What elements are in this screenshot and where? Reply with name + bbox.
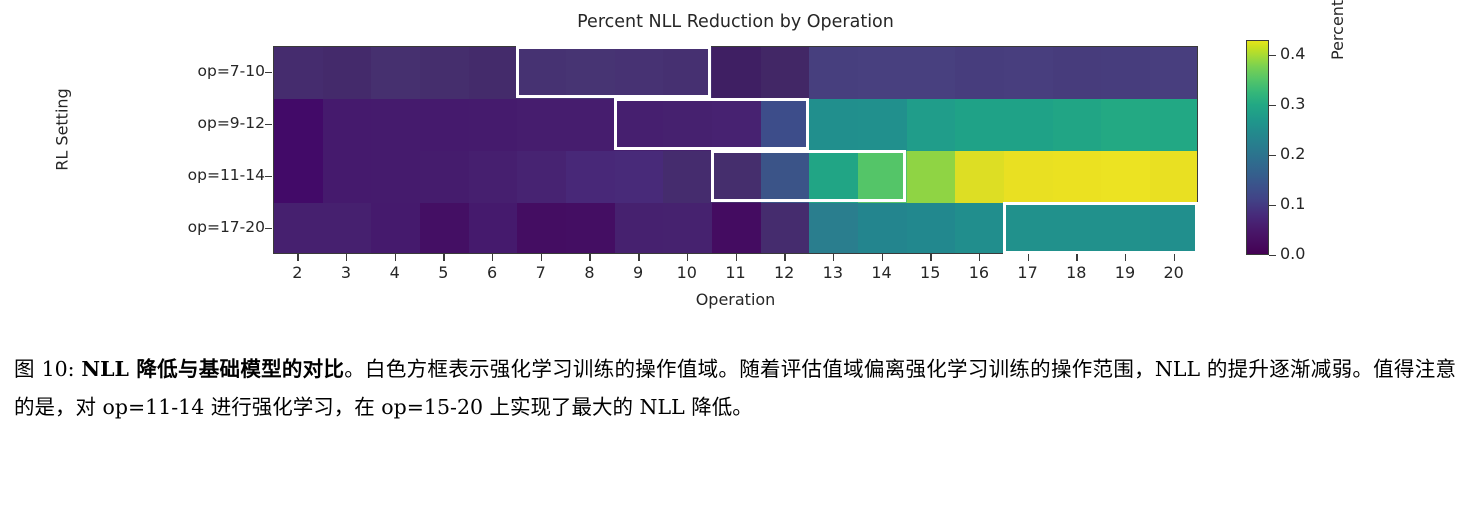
x-tick-label: 5 [423, 263, 463, 282]
heatmap-cell [1101, 99, 1150, 151]
x-tick-label: 18 [1056, 263, 1096, 282]
y-tick-label: op=17-20 [60, 218, 265, 236]
heatmap-cell [1004, 47, 1053, 99]
heatmap-cell [1150, 151, 1198, 203]
heatmap-cell [469, 99, 518, 151]
figure-container: Percent NLL Reduction by Operation RL Se… [0, 0, 1468, 330]
x-tick-mark [346, 254, 347, 261]
caption-bold-title: NLL 降低与基础模型的对比 [81, 357, 344, 381]
colorbar-tick-label: 0.2 [1280, 144, 1305, 163]
x-tick-label: 16 [959, 263, 999, 282]
heatmap-cell [615, 99, 664, 151]
colorbar-tick-label: 0.3 [1280, 94, 1305, 113]
heatmap-row [274, 151, 1198, 203]
heatmap-cell [469, 47, 518, 99]
heatmap-row [274, 203, 1198, 254]
heatmap-cell [1053, 151, 1102, 203]
x-tick-label: 2 [277, 263, 317, 282]
heatmap-cell [858, 99, 907, 151]
heatmap-cell [907, 47, 956, 99]
heatmap-cell [1004, 99, 1053, 151]
x-tick-label: 3 [326, 263, 366, 282]
heatmap-cell [858, 203, 907, 254]
heatmap-cell [420, 203, 469, 254]
x-tick-label: 13 [813, 263, 853, 282]
heatmap-cell [761, 99, 810, 151]
heatmap-cell [517, 99, 566, 151]
x-tick-mark [736, 254, 737, 261]
heatmap-cell [761, 203, 810, 254]
heatmap-cell [907, 151, 956, 203]
heatmap-cell [955, 203, 1004, 254]
x-tick-mark [979, 254, 980, 261]
heatmap-cell [907, 99, 956, 151]
heatmap-cell [323, 99, 372, 151]
heatmap-cell [566, 99, 615, 151]
x-tick-mark [395, 254, 396, 261]
heatmap-cell [1150, 99, 1198, 151]
heatmap-cell [615, 151, 664, 203]
colorbar-tick-mark [1269, 105, 1276, 106]
x-tick-label: 12 [764, 263, 804, 282]
colorbar-tick-label: 0.0 [1280, 244, 1305, 263]
heatmap-cell [809, 151, 858, 203]
y-tick-mark [265, 228, 272, 229]
heatmap-cell [955, 99, 1004, 151]
x-tick-mark [930, 254, 931, 261]
y-tick-label: op=7-10 [60, 62, 265, 80]
x-tick-label: 17 [1008, 263, 1048, 282]
x-tick-label: 14 [862, 263, 902, 282]
x-tick-label: 8 [569, 263, 609, 282]
x-tick-mark [784, 254, 785, 261]
chart-title: Percent NLL Reduction by Operation [273, 12, 1198, 32]
heatmap-cell [809, 99, 858, 151]
x-tick-label: 11 [716, 263, 756, 282]
x-tick-mark [687, 254, 688, 261]
heatmap-cell [663, 203, 712, 254]
x-tick-mark [589, 254, 590, 261]
colorbar-label: Percent Reduction [1328, 0, 1347, 60]
heatmap-cell [566, 47, 615, 99]
heatmap-cell [712, 99, 761, 151]
heatmap-cell [712, 151, 761, 203]
heatmap-cell [712, 47, 761, 99]
heatmap-cell [420, 151, 469, 203]
heatmap-cell [615, 47, 664, 99]
x-tick-label: 4 [375, 263, 415, 282]
x-tick-mark [297, 254, 298, 261]
heatmap-cell [809, 203, 858, 254]
heatmap-cell [955, 47, 1004, 99]
x-tick-mark [833, 254, 834, 261]
heatmap-cell [1004, 203, 1053, 254]
heatmap-cell [274, 99, 323, 151]
y-tick-mark [265, 124, 272, 125]
heatmap-cell [663, 99, 712, 151]
heatmap-cell [1053, 47, 1102, 99]
heatmap-cell [274, 47, 323, 99]
colorbar [1246, 40, 1269, 255]
heatmap-cell [517, 47, 566, 99]
x-tick-mark [638, 254, 639, 261]
heatmap-cell [663, 47, 712, 99]
heatmap-cell [1101, 47, 1150, 99]
y-tick-label: op=9-12 [60, 114, 265, 132]
colorbar-tick-mark [1269, 255, 1276, 256]
heatmap-cell [566, 151, 615, 203]
heatmap-cell [517, 151, 566, 203]
heatmap-cell [809, 47, 858, 99]
heatmap-row [274, 47, 1198, 99]
y-tick-mark [265, 176, 272, 177]
heatmap-cell [858, 151, 907, 203]
heatmap-cell [420, 99, 469, 151]
heatmap-cell [1004, 151, 1053, 203]
x-tick-mark [1076, 254, 1077, 261]
x-tick-mark [1125, 254, 1126, 261]
heatmap-cell [761, 151, 810, 203]
x-tick-label: 15 [910, 263, 950, 282]
heatmap-cell [371, 47, 420, 99]
heatmap-cell [615, 203, 664, 254]
colorbar-tick-label: 0.1 [1280, 194, 1305, 213]
y-tick-mark [265, 72, 272, 73]
x-tick-mark [1028, 254, 1029, 261]
heatmap-cell [907, 203, 956, 254]
x-axis-label: Operation [273, 290, 1198, 309]
heatmap-cell [274, 151, 323, 203]
caption-figure-label: 图 10: [14, 357, 75, 381]
heatmap-cell [517, 203, 566, 254]
heatmap-cell [371, 203, 420, 254]
colorbar-tick-mark [1269, 55, 1276, 56]
heatmap-cell [420, 47, 469, 99]
heatmap-cell [469, 151, 518, 203]
x-tick-mark [541, 254, 542, 261]
heatmap-cell [663, 151, 712, 203]
heatmap-cell [712, 203, 761, 254]
heatmap-cell [1150, 203, 1198, 254]
x-tick-label: 19 [1105, 263, 1145, 282]
figure-caption: 图 10: NLL 降低与基础模型的对比。白色方框表示强化学习训练的操作值域。随… [14, 350, 1456, 426]
heatmap-cell [274, 203, 323, 254]
x-tick-mark [492, 254, 493, 261]
x-tick-label: 6 [472, 263, 512, 282]
heatmap-cell [371, 151, 420, 203]
heatmap-cell [566, 203, 615, 254]
x-tick-label: 10 [667, 263, 707, 282]
heatmap-grid [274, 47, 1197, 254]
heatmap-cell [858, 47, 907, 99]
heatmap-cell [469, 203, 518, 254]
heatmap-cell [323, 203, 372, 254]
heatmap-cell [955, 151, 1004, 203]
heatmap-plot [273, 46, 1198, 254]
colorbar-tick-label: 0.4 [1280, 44, 1305, 63]
colorbar-tick-mark [1269, 205, 1276, 206]
heatmap-cell [323, 151, 372, 203]
heatmap-cell [1101, 151, 1150, 203]
x-tick-label: 7 [521, 263, 561, 282]
x-tick-label: 20 [1154, 263, 1194, 282]
heatmap-cell [1053, 99, 1102, 151]
x-tick-mark [882, 254, 883, 261]
heatmap-cell [1101, 203, 1150, 254]
x-tick-mark [1174, 254, 1175, 261]
heatmap-cell [761, 47, 810, 99]
heatmap-cell [1150, 47, 1198, 99]
heatmap-row [274, 99, 1198, 151]
heatmap-cell [1053, 203, 1102, 254]
heatmap-cell [371, 99, 420, 151]
y-tick-label: op=11-14 [60, 166, 265, 184]
colorbar-tick-mark [1269, 155, 1276, 156]
x-tick-label: 9 [618, 263, 658, 282]
x-tick-mark [443, 254, 444, 261]
heatmap-cell [323, 47, 372, 99]
